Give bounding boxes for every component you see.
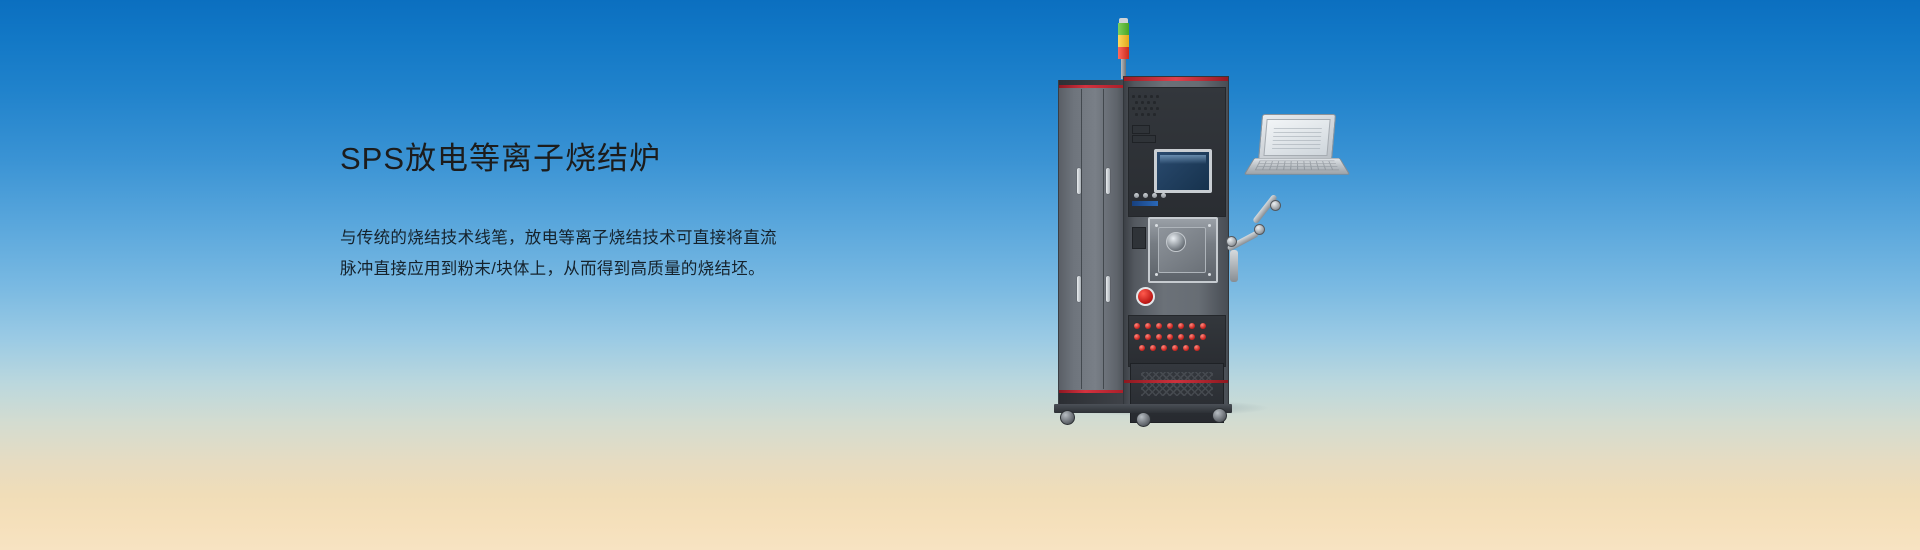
laptop-keys [1255, 161, 1340, 171]
cabinet-red-stripe-top [1059, 85, 1125, 88]
cabinet-door-seam-1 [1081, 89, 1082, 389]
arm-joint-top [1270, 200, 1281, 211]
hero-banner: SPS放电等离子烧结炉 与传统的烧结技术线笔，放电等离子烧结技术可直接将直流 脉… [0, 0, 1920, 550]
screen-glare [1160, 155, 1206, 164]
cabinet-handle-4 [1106, 276, 1110, 302]
caster-wheel-center [1136, 412, 1151, 427]
touchscreen-display[interactable] [1154, 149, 1212, 193]
side-control-plate [1132, 227, 1146, 249]
laptop-keyboard[interactable] [1244, 158, 1351, 175]
arm-joint-base [1226, 236, 1237, 247]
laptop-screen [1263, 119, 1330, 156]
arm-post [1230, 250, 1238, 282]
left-cabinet [1058, 80, 1125, 405]
stack-light-green [1118, 23, 1129, 35]
body-red-stripe-top [1124, 77, 1228, 81]
stack-light-red [1118, 47, 1129, 59]
cabinet-handle-3 [1077, 276, 1081, 302]
hero-description: 与传统的烧结技术线笔，放电等离子烧结技术可直接将直流 脉冲直接应用到粉末/块体上… [340, 223, 860, 285]
blue-indicator-bar [1132, 201, 1158, 206]
description-line-1: 与传统的烧结技术线笔，放电等离子烧结技术可直接将直流 [340, 223, 860, 254]
view-port-window [1166, 232, 1186, 252]
body-red-stripe-bottom [1124, 380, 1228, 383]
ventilation-grille-icon [1132, 95, 1160, 119]
control-laptop[interactable] [1254, 114, 1338, 186]
stack-light-icon [1118, 18, 1129, 78]
cabinet-door-seam-2 [1103, 89, 1104, 389]
emergency-stop-button[interactable] [1136, 287, 1155, 306]
caster-wheel-right [1212, 408, 1227, 423]
product-image [1040, 18, 1340, 438]
articulated-monitor-arm [1226, 198, 1292, 284]
cabinet-handle-1 [1077, 168, 1081, 194]
stack-light-yellow [1118, 35, 1129, 47]
description-line-2: 脉冲直接应用到粉末/块体上，从而得到高质量的烧结坯。 [340, 254, 860, 285]
main-body [1123, 76, 1229, 410]
panel-label-1 [1132, 125, 1150, 134]
sintering-chamber-door[interactable] [1148, 217, 1218, 283]
mesh-grille-icon [1141, 372, 1213, 396]
laptop-lid [1258, 114, 1336, 162]
caster-wheel-left [1060, 410, 1075, 425]
arm-joint-mid [1254, 224, 1265, 235]
page-title: SPS放电等离子烧结炉 [340, 140, 860, 179]
laptop-screen-content [1272, 128, 1322, 150]
control-knob-row[interactable] [1134, 193, 1168, 199]
hero-text-block: SPS放电等离子烧结炉 与传统的烧结技术线笔，放电等离子烧结技术可直接将直流 脉… [340, 140, 860, 285]
status-led-array [1134, 323, 1214, 357]
cabinet-handle-2 [1106, 168, 1110, 194]
panel-label-2 [1132, 135, 1156, 143]
